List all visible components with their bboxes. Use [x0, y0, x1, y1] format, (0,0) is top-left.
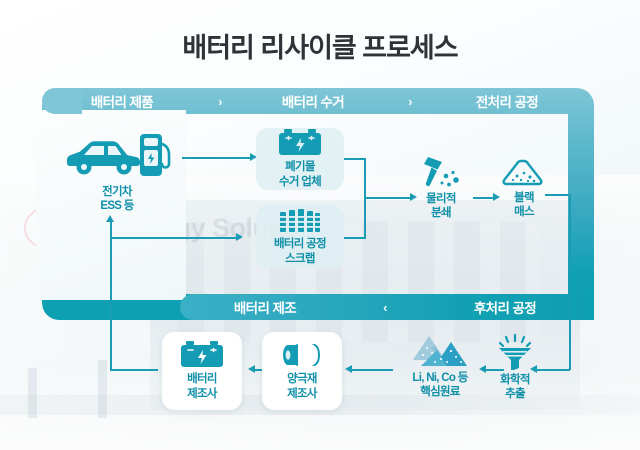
node-label-battery-maker: 배터리 제조사 — [187, 372, 217, 401]
connector-scrap-out — [344, 237, 366, 239]
infographic-canvas: LG Energy Solution 배터리 리사이클 프로세스 배터리 제품 … — [0, 0, 640, 450]
arrow-cathode-to-battery — [248, 365, 255, 373]
node-physical-crush[interactable]: 물리적 분쇄 — [408, 155, 474, 221]
node-label-waste-collector: 폐기물 수거 업체 — [279, 160, 321, 189]
stage-label-pretreatment: 전처리 공정 — [432, 91, 582, 111]
upper-process-bar: 배터리 제품 › 배터리 수거 › 전처리 공정 — [42, 88, 594, 114]
arrow-raw-to-cathode — [345, 365, 352, 373]
car-battery-icon — [180, 341, 224, 369]
connector-left-rail-up — [110, 222, 112, 370]
connector-crush-to-blackmass — [473, 197, 495, 199]
node-ev[interactable]: 전기차 ESS 등 — [52, 130, 182, 214]
node-label-black-mass: 블랙 매스 — [514, 191, 534, 220]
connector-bracket-to-crusher — [364, 197, 412, 199]
node-label-process-scrap: 배터리 공정 스크랩 — [274, 237, 326, 266]
stage-label-battery-collection: 배터리 수거 — [238, 91, 388, 111]
stage-chevron-right-icon: › — [202, 94, 238, 109]
cylindrical-cell-icon — [280, 341, 324, 369]
node-raw-materials[interactable]: Li, Ni, Co 등 핵심원료 — [393, 334, 487, 400]
page-title: 배터리 리사이클 프로세스 — [0, 26, 640, 65]
arrow-leftrail-to-ev — [106, 215, 114, 222]
node-black-mass[interactable]: 블랙 매스 — [494, 158, 554, 220]
node-label-raw-materials: Li, Ni, Co 등 핵심원료 — [412, 371, 467, 400]
node-label-ev: 전기차 ESS 등 — [100, 185, 133, 214]
connector-collector-out — [344, 158, 366, 160]
bottom-bar-fill — [180, 294, 594, 320]
mineral-mountains-icon — [407, 334, 473, 368]
powder-pile-icon — [497, 158, 551, 188]
node-label-physical-crush: 물리적 분쇄 — [426, 192, 456, 221]
card-process-scrap[interactable]: 배터리 공정 스크랩 — [256, 205, 344, 269]
electric-car-charging-icon — [62, 130, 172, 182]
card-battery-maker[interactable]: 배터리 제조사 — [162, 332, 242, 410]
hammer-crush-icon — [418, 155, 464, 189]
arrow-leftrail-to-scrap — [236, 233, 243, 241]
connector-ev-to-collector — [182, 157, 250, 159]
connector-raw-to-cathode — [352, 369, 393, 371]
node-label-chemical-extract: 화학적 추출 — [500, 373, 530, 402]
background-pole — [98, 360, 107, 418]
connector-leftrail-to-scrap — [110, 237, 238, 239]
funnel-extraction-icon — [493, 334, 537, 370]
card-cathode-maker[interactable]: 양극재 제조사 — [262, 332, 342, 410]
battery-cell-stack-icon — [278, 208, 322, 234]
background-pole — [28, 368, 37, 418]
node-label-cathode-maker: 양극재 제조사 — [287, 372, 317, 401]
connector-battery-to-leftrail — [110, 369, 158, 371]
node-chemical-extract[interactable]: 화학적 추출 — [483, 334, 547, 402]
connector-right-rail-down — [569, 194, 571, 370]
stage-chevron-right-icon: › — [388, 94, 432, 109]
card-waste-collector[interactable]: 폐기물 수거 업체 — [256, 128, 344, 190]
car-battery-icon — [278, 129, 322, 157]
top-bar-left-cap — [42, 88, 82, 114]
